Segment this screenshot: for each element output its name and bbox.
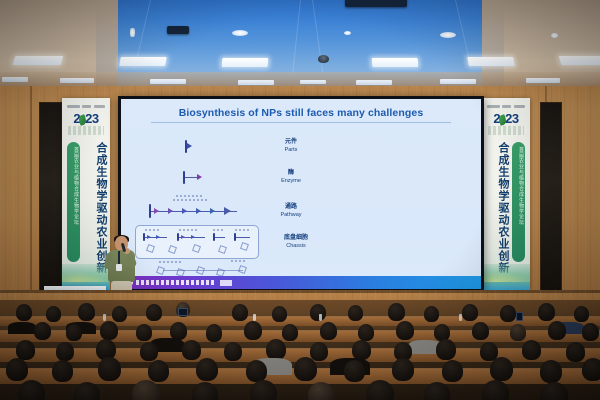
audience-head — [538, 303, 555, 321]
audience-head — [436, 339, 456, 360]
projection-screen: Biosynthesis of NPs still faces many cha… — [118, 96, 484, 292]
audience-head — [16, 304, 32, 321]
water-bottle-icon — [103, 314, 106, 321]
audience-head — [192, 382, 218, 400]
audience-head — [366, 380, 394, 400]
slim-light-icon — [238, 80, 274, 85]
audience-head — [224, 342, 242, 361]
gene-arrow-icon — [197, 174, 202, 180]
slim-light-icon — [300, 80, 326, 84]
banner-main-text-right: 合成生物学驱动农业创新 — [486, 142, 508, 274]
chassis-caption — [213, 229, 225, 231]
pathway-bottom-caption — [159, 261, 181, 263]
doorway-left — [39, 102, 62, 296]
audience-area — [0, 300, 600, 400]
pathway-bottom-caption — [231, 260, 247, 262]
row-label-pathway: 通路 Pathway — [261, 204, 321, 218]
panel-light-icon — [372, 58, 419, 67]
lanyard-icon — [118, 251, 120, 265]
row-label-enzyme-cn: 酶 — [261, 170, 321, 178]
audience-head — [396, 321, 414, 340]
row-label-parts-en: Parts — [261, 147, 321, 154]
phone-icon — [516, 312, 523, 321]
row-label-pathway-cn: 通路 — [261, 204, 321, 212]
audience-head — [74, 382, 100, 400]
audience-head — [246, 360, 267, 382]
row-label-chassis-cn: 底盘细胞 — [261, 235, 331, 243]
audience-head — [146, 304, 162, 321]
water-bottle-icon — [319, 314, 322, 321]
slim-light-icon — [526, 78, 560, 83]
banner-year-right: 223 — [482, 111, 530, 126]
audience-head — [78, 303, 95, 321]
projector-icon — [345, 0, 407, 7]
audience-head — [540, 382, 568, 400]
slide-footer-bar — [121, 276, 481, 289]
slim-light-icon — [440, 79, 476, 84]
downlight-icon — [344, 31, 351, 35]
sponsor-logo-chip — [94, 105, 105, 108]
slim-light-icon — [2, 77, 28, 82]
banner-sponsor-logos — [66, 103, 106, 109]
audience-head — [388, 303, 405, 321]
green-leaf-icon — [78, 114, 88, 126]
gene-arrow-icon — [168, 208, 173, 214]
title-divider — [151, 122, 451, 123]
audience-head — [100, 321, 118, 340]
gene-arrow-icon — [196, 208, 201, 214]
phone-icon — [178, 308, 188, 316]
banner-green-strip-left: 首届农业与植物合成生物学论坛 — [67, 142, 80, 262]
audience-head — [540, 360, 562, 383]
row-label-chassis-en: Chassis — [261, 243, 331, 250]
audience-head — [16, 340, 35, 360]
audience-head — [308, 382, 334, 400]
gene-arrow-icon — [181, 235, 185, 239]
gene-arrow-icon — [210, 208, 215, 214]
audience-head — [310, 342, 328, 361]
audience-head — [566, 342, 585, 362]
audience-head — [482, 380, 509, 400]
gene-arrow-icon — [156, 235, 160, 239]
banner-footer-art-right — [482, 264, 530, 290]
audience-head — [582, 358, 600, 381]
chemical-chain-line — [163, 270, 243, 271]
downlight-icon — [440, 32, 456, 38]
row-label-enzyme: 酶 Enzyme — [261, 170, 321, 184]
water-bottle-icon — [459, 314, 462, 321]
slim-light-icon — [150, 79, 186, 84]
panel-light-icon — [559, 56, 600, 65]
green-leaf-icon — [498, 114, 508, 126]
gene-backbone-line — [215, 237, 225, 238]
audience-head — [182, 340, 201, 360]
audience-head — [442, 360, 463, 382]
chassis-caption — [235, 229, 249, 231]
sponsor-logo-chip — [514, 105, 525, 108]
audience-head — [352, 340, 371, 360]
sponsor-logo-chip — [487, 105, 500, 108]
audience-head — [18, 380, 45, 400]
sponsor-logo-chip — [502, 105, 511, 108]
audience-head — [34, 322, 51, 340]
audience-head — [462, 304, 478, 321]
gene-arrow-icon — [182, 208, 187, 214]
promoter-arrow-icon — [187, 143, 192, 149]
audience-head — [548, 321, 566, 340]
panel-light-icon — [119, 57, 167, 66]
audience-head — [140, 342, 158, 361]
downlight-icon — [551, 33, 558, 38]
downlight-icon — [232, 30, 248, 36]
banner-subtitle-strip — [68, 126, 104, 135]
row-label-chassis: 底盘细胞 Chassis — [261, 235, 331, 249]
gene-arrow-icon — [154, 208, 159, 214]
audience-head — [52, 360, 73, 382]
slide-title: Biosynthesis of NPs still faces many cha… — [121, 107, 481, 119]
audience-head — [46, 306, 61, 322]
audience-head — [98, 357, 121, 381]
pathway-caption-text — [173, 199, 207, 201]
audience-head — [522, 340, 541, 360]
slim-light-icon — [60, 78, 94, 83]
panel-light-icon — [13, 56, 64, 65]
panel-light-icon — [467, 57, 515, 66]
row-label-enzyme-en: Enzyme — [261, 178, 321, 185]
audience-head — [56, 342, 74, 361]
audience-head — [66, 324, 82, 341]
wall-seam — [30, 86, 32, 318]
banner-right: 223 首届农业与植物合成生物学论坛 合成生物学驱动农业创新 — [482, 98, 530, 290]
banner-year-digits: 223 — [493, 111, 518, 126]
audience-head — [424, 306, 439, 322]
audience-head — [344, 360, 365, 382]
conference-hall-photo: 223 首届农业与植物合成生物学论坛 合成生物学驱动农业创新 223 首届农业与… — [0, 0, 600, 400]
banner-green-strip-right: 首届农业与植物合成生物学论坛 — [512, 142, 525, 262]
audience-head — [244, 321, 262, 340]
audience-head — [320, 322, 337, 340]
audience-head — [392, 358, 414, 381]
slide-footer-badge — [220, 280, 232, 286]
water-bottle-icon — [253, 314, 256, 321]
row-label-parts: 元件 Parts — [261, 139, 321, 153]
chassis-caption — [145, 229, 161, 231]
panel-light-icon — [222, 58, 269, 67]
audience-head — [574, 306, 589, 322]
dome-camera-icon — [318, 55, 329, 63]
banner-left: 223 首届农业与植物合成生物学论坛 合成生物学驱动农业创新 — [62, 98, 110, 290]
pathway-direction-arrow-icon — [224, 207, 231, 215]
audience-head — [132, 380, 160, 400]
ceiling — [0, 0, 600, 88]
banner-subtitle-strip — [488, 126, 524, 135]
audience-head — [490, 357, 513, 381]
audience-head — [266, 339, 286, 360]
pathway-caption-text — [176, 195, 204, 197]
slide-footer-org-text — [136, 280, 214, 285]
badge-icon — [116, 264, 122, 271]
audience-head — [282, 324, 298, 341]
audience-head — [358, 324, 374, 341]
audience-head — [582, 323, 599, 341]
audience-head — [206, 324, 222, 342]
row-label-pathway-en: Pathway — [261, 212, 321, 219]
audience-head — [310, 304, 326, 321]
audience-shoulder — [8, 322, 36, 334]
audience-head — [272, 306, 287, 322]
gene-backbone-line — [236, 237, 250, 238]
audience-head — [510, 324, 526, 341]
gene-arrow-icon — [147, 235, 151, 239]
audience-head — [348, 305, 363, 321]
audience-head — [250, 380, 277, 400]
projector-icon — [167, 26, 189, 34]
sponsor-logo-chip — [67, 105, 80, 108]
downlight-icon — [130, 28, 135, 37]
presentation-slide: Biosynthesis of NPs still faces many cha… — [121, 99, 481, 289]
audience-head — [196, 358, 218, 381]
sponsor-logo-chip — [82, 105, 91, 108]
audience-head — [500, 305, 516, 322]
doorway-right — [540, 102, 562, 296]
audience-head — [472, 322, 489, 340]
audience-head — [112, 306, 127, 322]
audience-head — [136, 324, 152, 341]
banner-main-text-left: 合成生物学驱动农业创新 — [84, 142, 106, 274]
audience-head — [232, 304, 248, 321]
audience-head — [148, 360, 169, 382]
row-label-parts-cn: 元件 — [261, 139, 321, 147]
banner-sponsor-logos — [486, 103, 526, 109]
audience-head — [424, 382, 450, 400]
banner-year-left: 223 — [62, 111, 110, 126]
chassis-caption — [179, 229, 199, 231]
gene-arrow-icon — [191, 235, 195, 239]
audience-head — [294, 357, 317, 381]
slim-light-icon — [356, 80, 392, 85]
audience-head — [6, 358, 28, 381]
banner-year-digits: 223 — [73, 111, 98, 126]
